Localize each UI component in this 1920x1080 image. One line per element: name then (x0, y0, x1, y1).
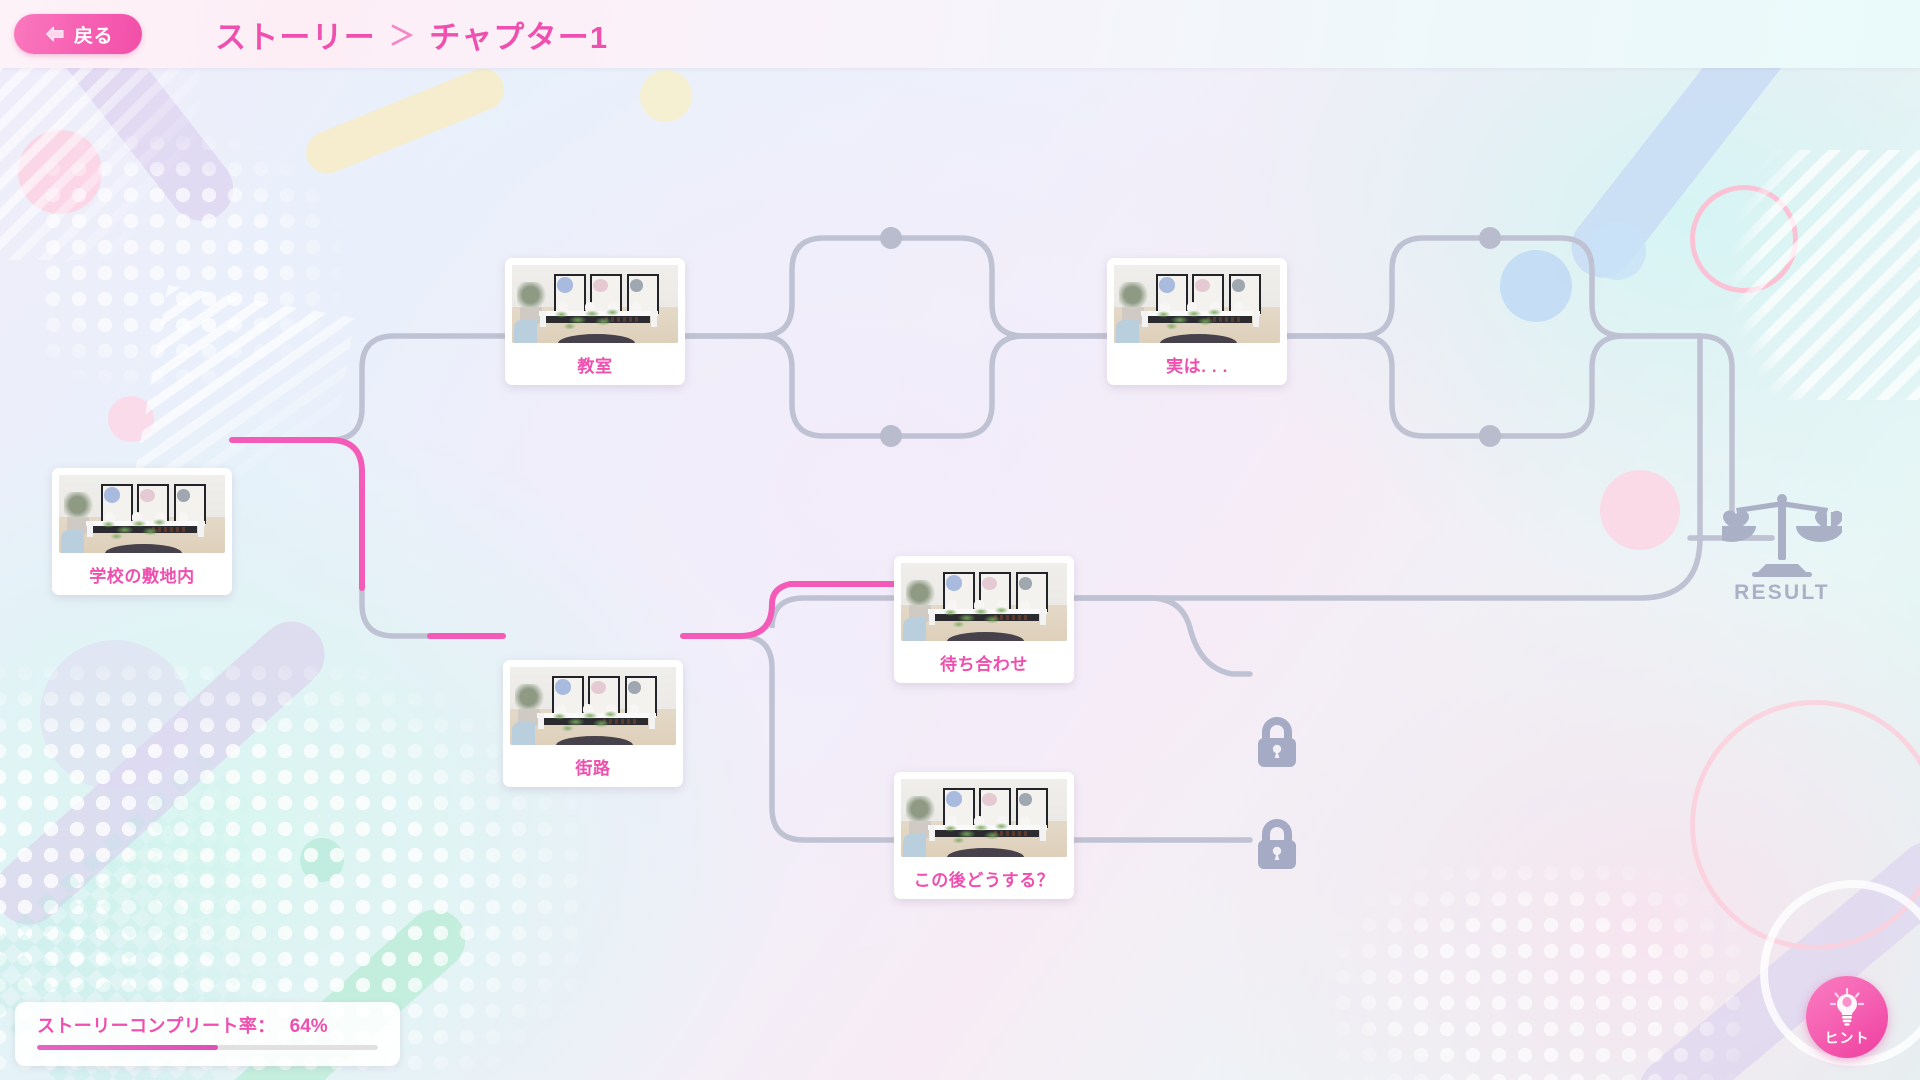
top-header-bar: 戻る ストーリー ＞ チャプター1 (0, 0, 1920, 68)
hint-button[interactable]: ヒント (1806, 976, 1888, 1058)
room-photo (1114, 265, 1280, 343)
result-label: RESULT (1722, 581, 1842, 605)
story-node-card[interactable]: 実は. . . (1107, 258, 1287, 385)
node-thumbnail (512, 265, 678, 343)
breadcrumb-current: チャプター1 (429, 12, 608, 57)
story-graph-canvas: 学校の敷地内 教室 (0, 68, 1920, 1080)
lightbulb-icon (1828, 987, 1866, 1027)
story-node-card[interactable]: この後どうする？ (894, 772, 1074, 899)
story-node-card[interactable]: 街路 (503, 660, 683, 787)
junction-dot (880, 227, 902, 249)
completion-progress-fill (37, 1045, 218, 1050)
node-label: 待ち合わせ (901, 641, 1067, 683)
node-label: 実は. . . (1114, 343, 1280, 385)
node-label: この後どうする？ (901, 857, 1067, 899)
story-node-card[interactable]: 学校の敷地内 (52, 468, 232, 595)
node-label: 教室 (512, 343, 678, 385)
room-photo (510, 667, 676, 745)
breadcrumb-separator-icon: ＞ (389, 16, 416, 53)
breadcrumb-root[interactable]: ストーリー (215, 12, 376, 57)
node-thumbnail (901, 779, 1067, 857)
hint-button-label: ヒント (1825, 1028, 1870, 1048)
completion-label: ストーリーコンプリート率： (37, 1012, 276, 1038)
junction-dot (1479, 425, 1501, 447)
story-completion-panel: ストーリーコンプリート率： 64% (15, 1002, 400, 1066)
result-node[interactable]: RESULT (1722, 488, 1842, 606)
back-button-label: 戻る (74, 21, 113, 48)
junction-dot (1479, 227, 1501, 249)
locked-node-1[interactable] (1250, 716, 1304, 772)
room-photo (512, 265, 678, 343)
node-thumbnail (901, 563, 1067, 641)
room-photo (901, 563, 1067, 641)
scales-hearts-icon (1722, 488, 1842, 580)
locked-node-2[interactable] (1250, 818, 1304, 874)
completion-progress-track (37, 1045, 378, 1050)
room-photo (901, 779, 1067, 857)
arrow-left-icon (43, 24, 67, 44)
completion-value: 64% (290, 1016, 328, 1038)
node-thumbnail (510, 667, 676, 745)
node-label: 学校の敷地内 (59, 553, 225, 595)
story-node-card[interactable]: 教室 (505, 258, 685, 385)
junction-dot (880, 425, 902, 447)
lock-icon (1250, 818, 1304, 874)
node-thumbnail (59, 475, 225, 553)
lock-icon (1250, 716, 1304, 772)
breadcrumb: ストーリー ＞ チャプター1 (215, 8, 608, 60)
back-button[interactable]: 戻る (14, 14, 142, 54)
room-photo (59, 475, 225, 553)
node-thumbnail (1114, 265, 1280, 343)
story-node-card[interactable]: 待ち合わせ (894, 556, 1074, 683)
node-label: 街路 (510, 745, 676, 787)
